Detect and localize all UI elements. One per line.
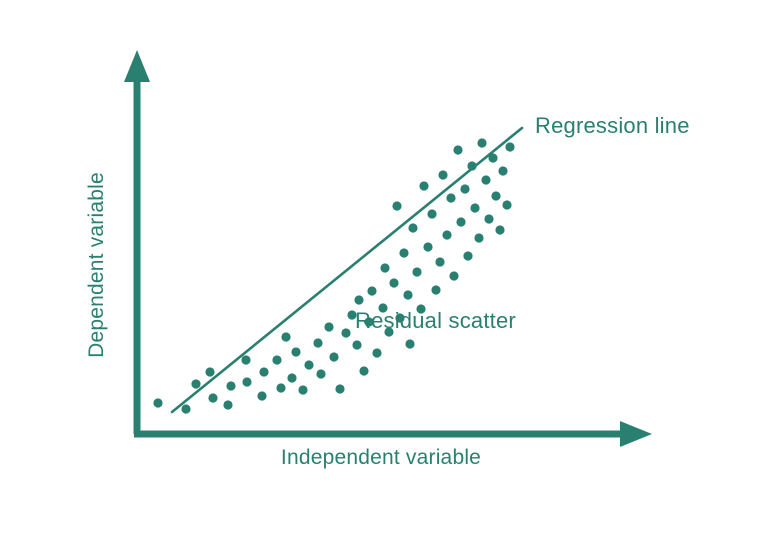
- regression-scatter-figure: Independent variable Dependent variable …: [0, 0, 772, 543]
- scatter-point: [399, 248, 408, 257]
- scatter-point: [298, 385, 307, 394]
- scatter-point: [205, 367, 214, 376]
- scatter-point: [405, 339, 414, 348]
- scatter-point: [242, 377, 251, 386]
- scatter-point: [257, 391, 266, 400]
- scatter-point: [341, 328, 350, 337]
- scatter-point-group: [153, 138, 514, 413]
- scatter-point: [329, 352, 338, 361]
- scatter-point: [259, 367, 268, 376]
- scatter-point: [412, 267, 421, 276]
- scatter-point: [408, 223, 417, 232]
- scatter-point: [367, 286, 376, 295]
- scatter-point: [380, 263, 389, 272]
- scatter-point: [291, 347, 300, 356]
- scatter-point: [153, 398, 162, 407]
- scatter-point: [372, 348, 381, 357]
- scatter-point: [495, 225, 504, 234]
- regression-line-label: Regression line: [535, 113, 690, 138]
- scatter-point: [272, 355, 281, 364]
- scatter-point: [287, 373, 296, 382]
- x-axis-arrowhead-icon: [620, 421, 652, 447]
- scatter-point: [481, 175, 490, 184]
- scatter-point: [324, 322, 333, 331]
- plot-canvas: Independent variable Dependent variable …: [0, 0, 772, 543]
- scatter-point: [427, 209, 436, 218]
- scatter-point: [456, 217, 465, 226]
- scatter-point: [470, 203, 479, 212]
- scatter-point: [460, 184, 469, 193]
- scatter-point: [498, 166, 507, 175]
- scatter-point: [474, 233, 483, 242]
- scatter-point: [505, 142, 514, 151]
- scatter-point: [442, 230, 451, 239]
- scatter-point: [191, 379, 200, 388]
- scatter-point: [304, 360, 313, 369]
- scatter-point: [446, 193, 455, 202]
- scatter-point: [491, 191, 500, 200]
- y-axis-title: Dependent variable: [85, 172, 108, 358]
- scatter-point: [502, 200, 511, 209]
- scatter-point: [208, 393, 217, 402]
- scatter-point: [181, 404, 190, 413]
- scatter-point: [281, 332, 290, 341]
- scatter-point: [453, 145, 462, 154]
- scatter-point: [484, 214, 493, 223]
- scatter-point: [423, 242, 432, 251]
- scatter-point: [419, 181, 428, 190]
- scatter-point: [226, 381, 235, 390]
- regression-line: [172, 128, 522, 412]
- scatter-point: [335, 384, 344, 393]
- scatter-point: [463, 251, 472, 260]
- y-axis-arrow: [124, 50, 150, 434]
- residual-scatter-label: Residual scatter: [355, 308, 516, 333]
- scatter-point: [313, 338, 322, 347]
- scatter-point: [223, 400, 232, 409]
- scatter-point: [449, 271, 458, 280]
- scatter-point: [276, 383, 285, 392]
- scatter-point: [435, 257, 444, 266]
- scatter-point: [438, 170, 447, 179]
- x-axis-title: Independent variable: [281, 446, 481, 469]
- scatter-point: [392, 201, 401, 210]
- scatter-point: [477, 138, 486, 147]
- scatter-point: [352, 340, 361, 349]
- x-axis-arrow: [134, 421, 652, 447]
- scatter-point: [467, 161, 476, 170]
- scatter-point: [241, 355, 250, 364]
- y-axis-arrowhead-icon: [124, 50, 150, 82]
- scatter-point: [316, 369, 325, 378]
- scatter-point: [389, 278, 398, 287]
- scatter-point: [403, 290, 412, 299]
- scatter-point: [359, 366, 368, 375]
- scatter-point: [354, 295, 363, 304]
- scatter-point: [431, 285, 440, 294]
- scatter-point: [488, 153, 497, 162]
